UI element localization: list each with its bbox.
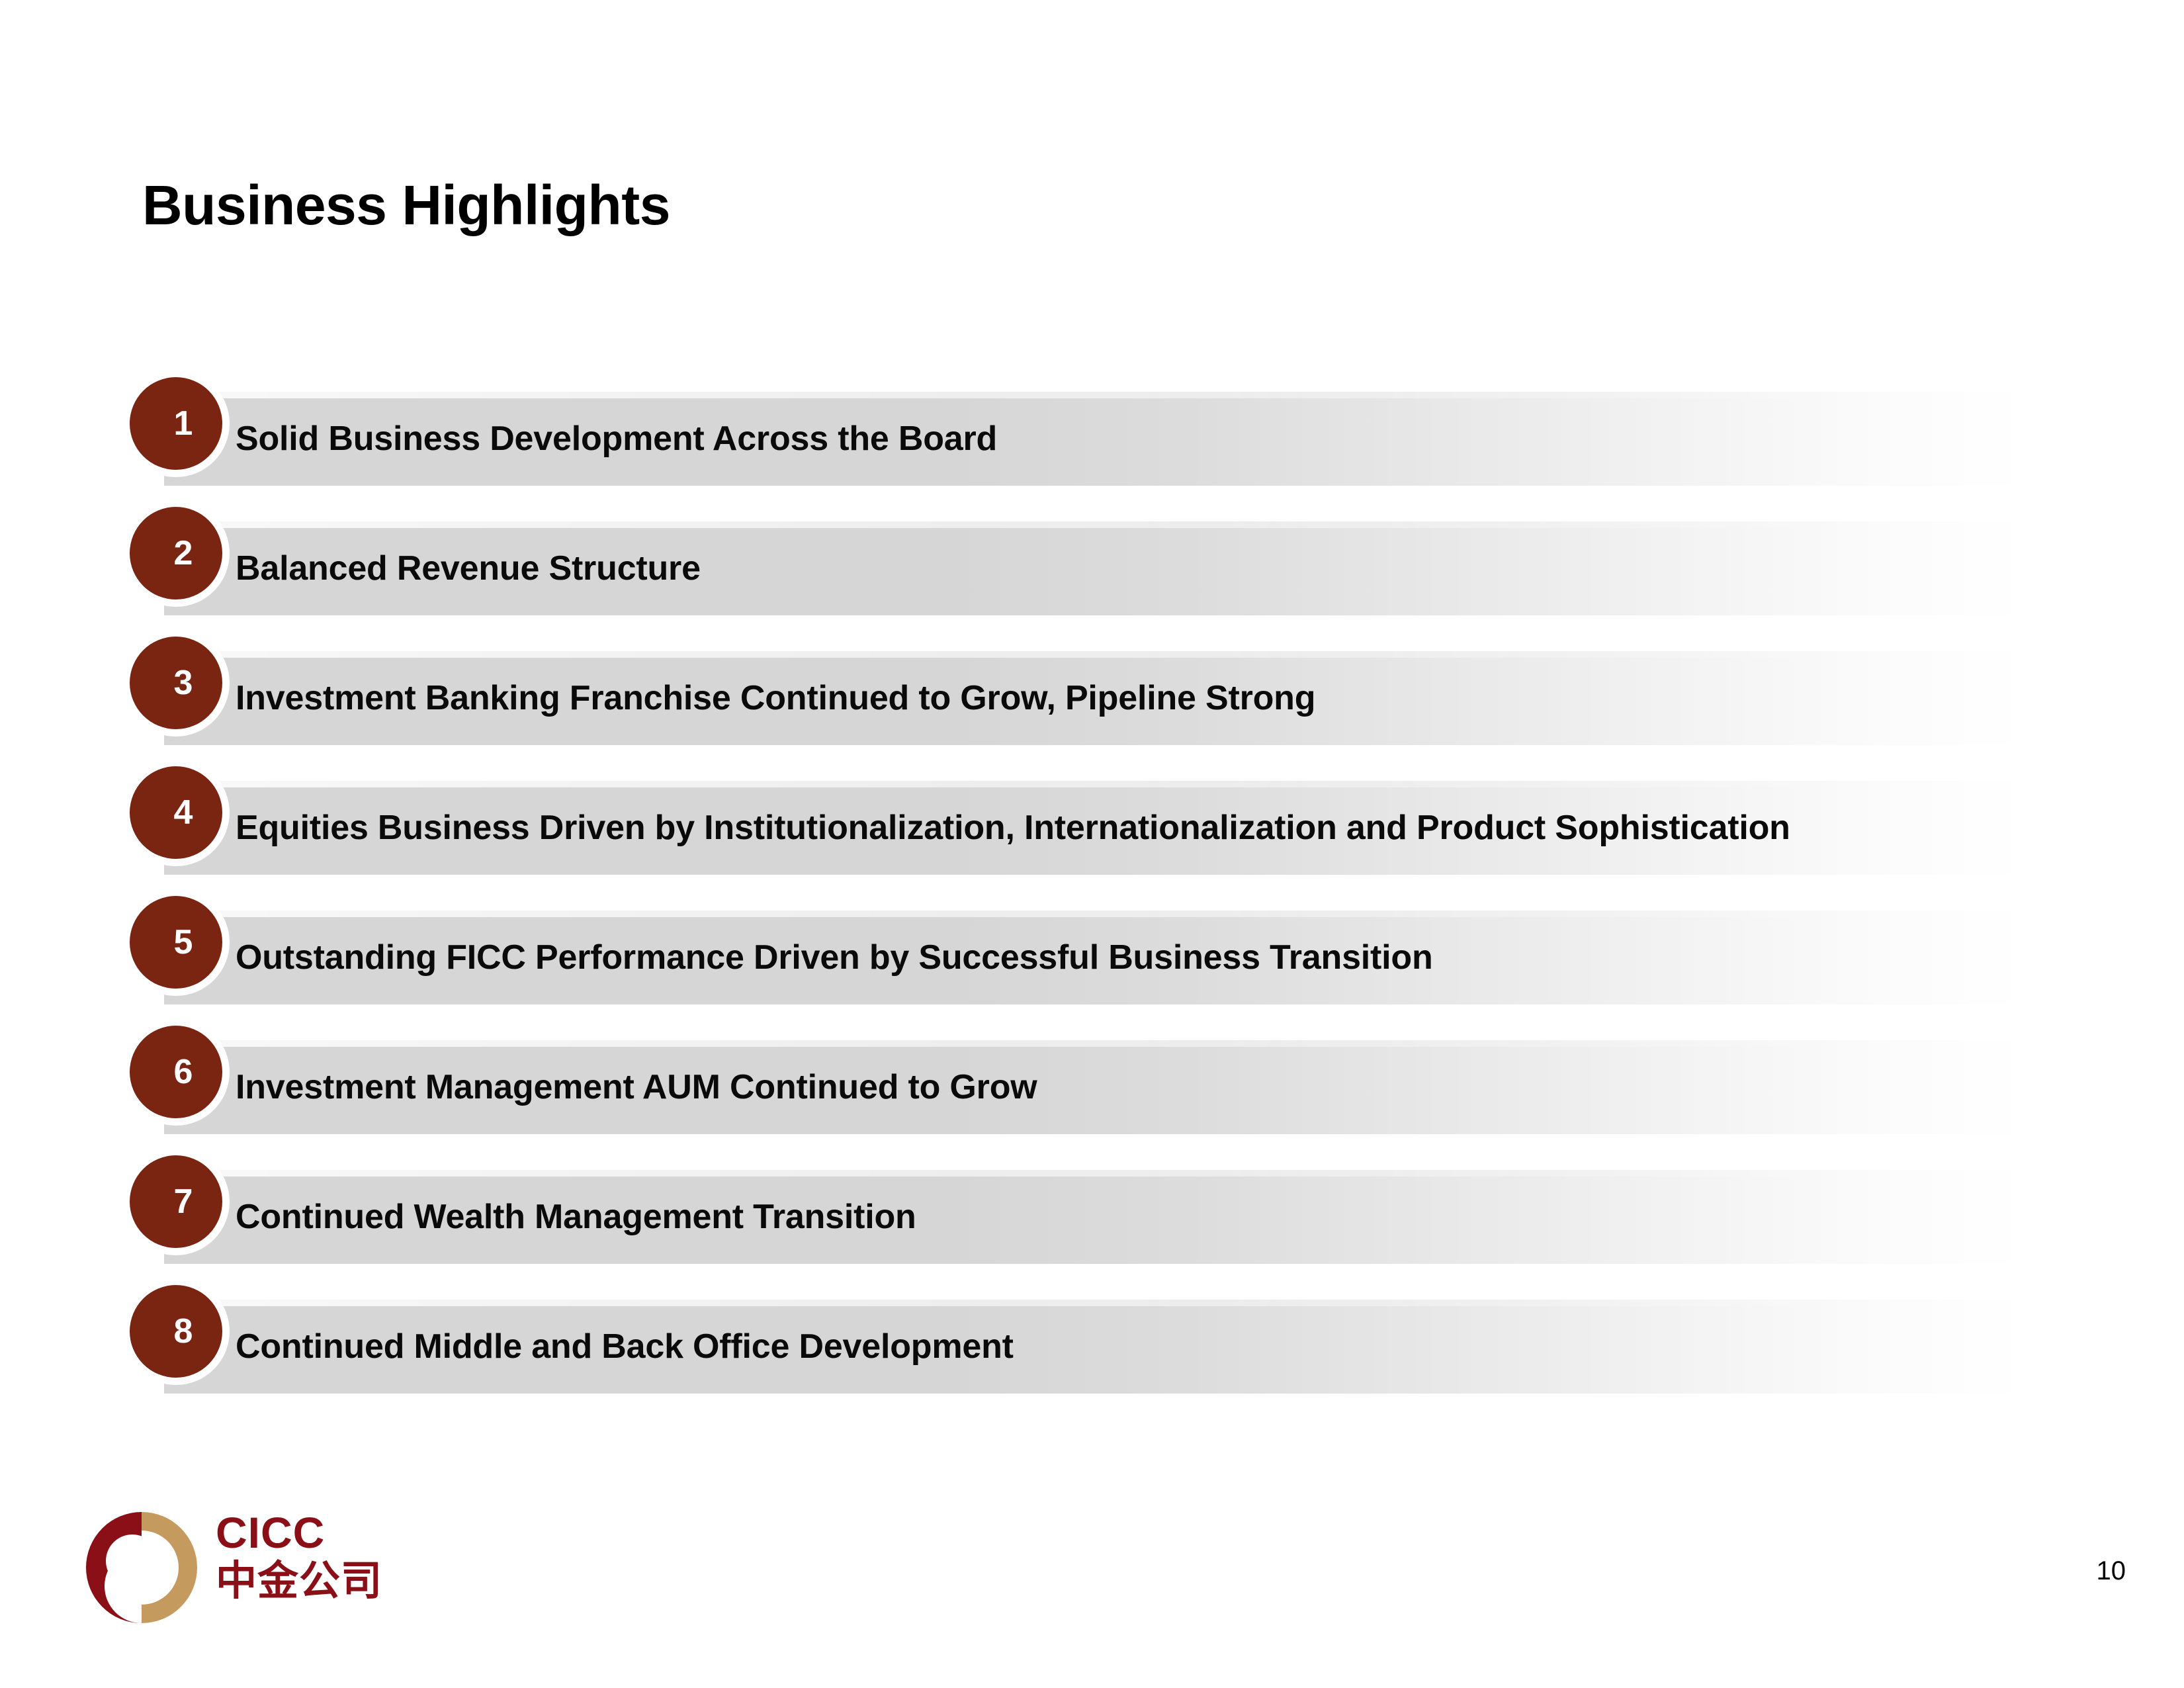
badge-number: 3 [130, 637, 222, 729]
list-item[interactable]: 4 Equities Business Driven by Institutio… [0, 781, 2184, 911]
list-item[interactable]: 6 Investment Management AUM Continued to… [0, 1040, 2184, 1170]
number-badge: 7 [130, 1155, 222, 1248]
page-title: Business Highlights [142, 177, 670, 233]
badge-number: 7 [130, 1155, 222, 1248]
highlight-label: Balanced Revenue Structure [236, 521, 701, 615]
cicc-name-cn: 中金公司 [216, 1558, 427, 1603]
cicc-name-en: CICC [216, 1511, 427, 1555]
number-badge: 8 [130, 1285, 222, 1378]
list-item[interactable]: 8 Continued Middle and Back Office Devel… [0, 1300, 2184, 1429]
highlight-label: Investment Banking Franchise Continued t… [236, 651, 1315, 745]
number-badge: 3 [130, 637, 222, 729]
badge-number: 8 [130, 1285, 222, 1378]
cicc-logo: CICC 中金公司 [85, 1511, 429, 1630]
list-item[interactable]: 1 Solid Business Development Across the … [0, 392, 2184, 521]
list-item[interactable]: 3 Investment Banking Franchise Continued… [0, 651, 2184, 781]
number-badge: 5 [130, 896, 222, 989]
highlights-list: 1 Solid Business Development Across the … [0, 392, 2184, 1429]
list-item[interactable]: 7 Continued Wealth Management Transition [0, 1170, 2184, 1300]
number-badge: 2 [130, 507, 222, 600]
highlight-label: Solid Business Development Across the Bo… [236, 392, 997, 486]
badge-number: 1 [130, 377, 222, 470]
cicc-wordmark: CICC 中金公司 [216, 1511, 427, 1604]
list-item[interactable]: 5 Outstanding FICC Performance Driven by… [0, 911, 2184, 1040]
slide-canvas: Business Highlights 1 Solid Business Dev… [0, 0, 2184, 1688]
number-badge: 6 [130, 1026, 222, 1118]
highlight-label: Continued Middle and Back Office Develop… [236, 1300, 1014, 1394]
badge-number: 6 [130, 1026, 222, 1118]
number-badge: 4 [130, 766, 222, 859]
highlight-label: Continued Wealth Management Transition [236, 1170, 916, 1264]
page-number: 10 [2097, 1556, 2126, 1586]
highlight-label: Equities Business Driven by Institutiona… [236, 781, 1790, 875]
highlight-label: Investment Management AUM Continued to G… [236, 1040, 1037, 1134]
number-badge: 1 [130, 377, 222, 470]
badge-number: 2 [130, 507, 222, 600]
badge-number: 5 [130, 896, 222, 989]
cicc-swirl-icon [85, 1511, 198, 1624]
list-item[interactable]: 2 Balanced Revenue Structure [0, 521, 2184, 651]
badge-number: 4 [130, 766, 222, 859]
highlight-label: Outstanding FICC Performance Driven by S… [236, 911, 1433, 1004]
